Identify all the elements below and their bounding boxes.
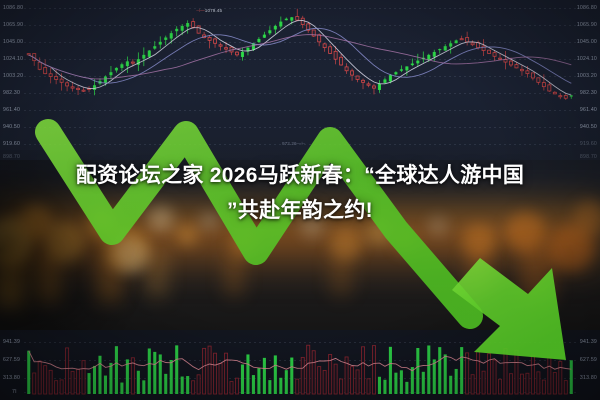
promo-banner: 1086.80 1065.90 1045.00 1024.10 1003.20 …	[0, 0, 600, 400]
headline-line-2: ”共赴年韵之约!	[8, 193, 592, 228]
promo-headline: 配资论坛之家 2026马跃新春：“全球达人游中国 ”共赴年韵之约!	[0, 158, 600, 228]
headline-line-1: 配资论坛之家 2026马跃新春：“全球达人游中国	[8, 158, 592, 193]
